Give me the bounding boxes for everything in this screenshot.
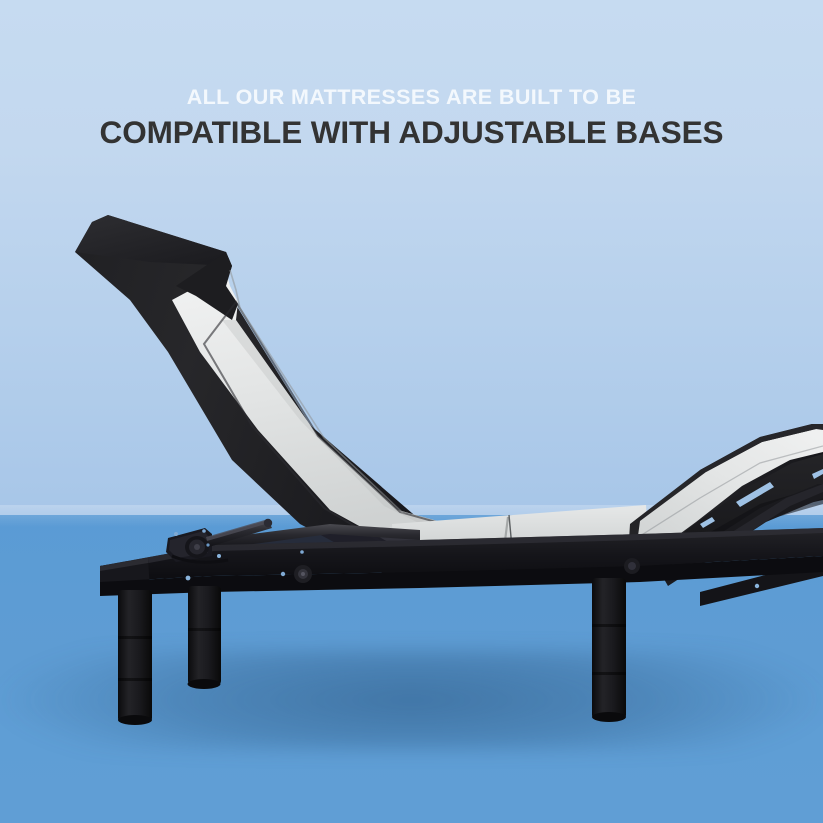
head-incline-section [75, 215, 505, 556]
adjustable-bed-illustration [0, 0, 823, 823]
leg-front-left [188, 586, 222, 689]
leg-right [592, 578, 626, 722]
leg-back-left [118, 590, 152, 725]
promo-banner: ALL OUR MATTRESSES ARE BUILT TO BE COMPA… [0, 0, 823, 823]
cylindrical-support-legs [118, 578, 626, 725]
